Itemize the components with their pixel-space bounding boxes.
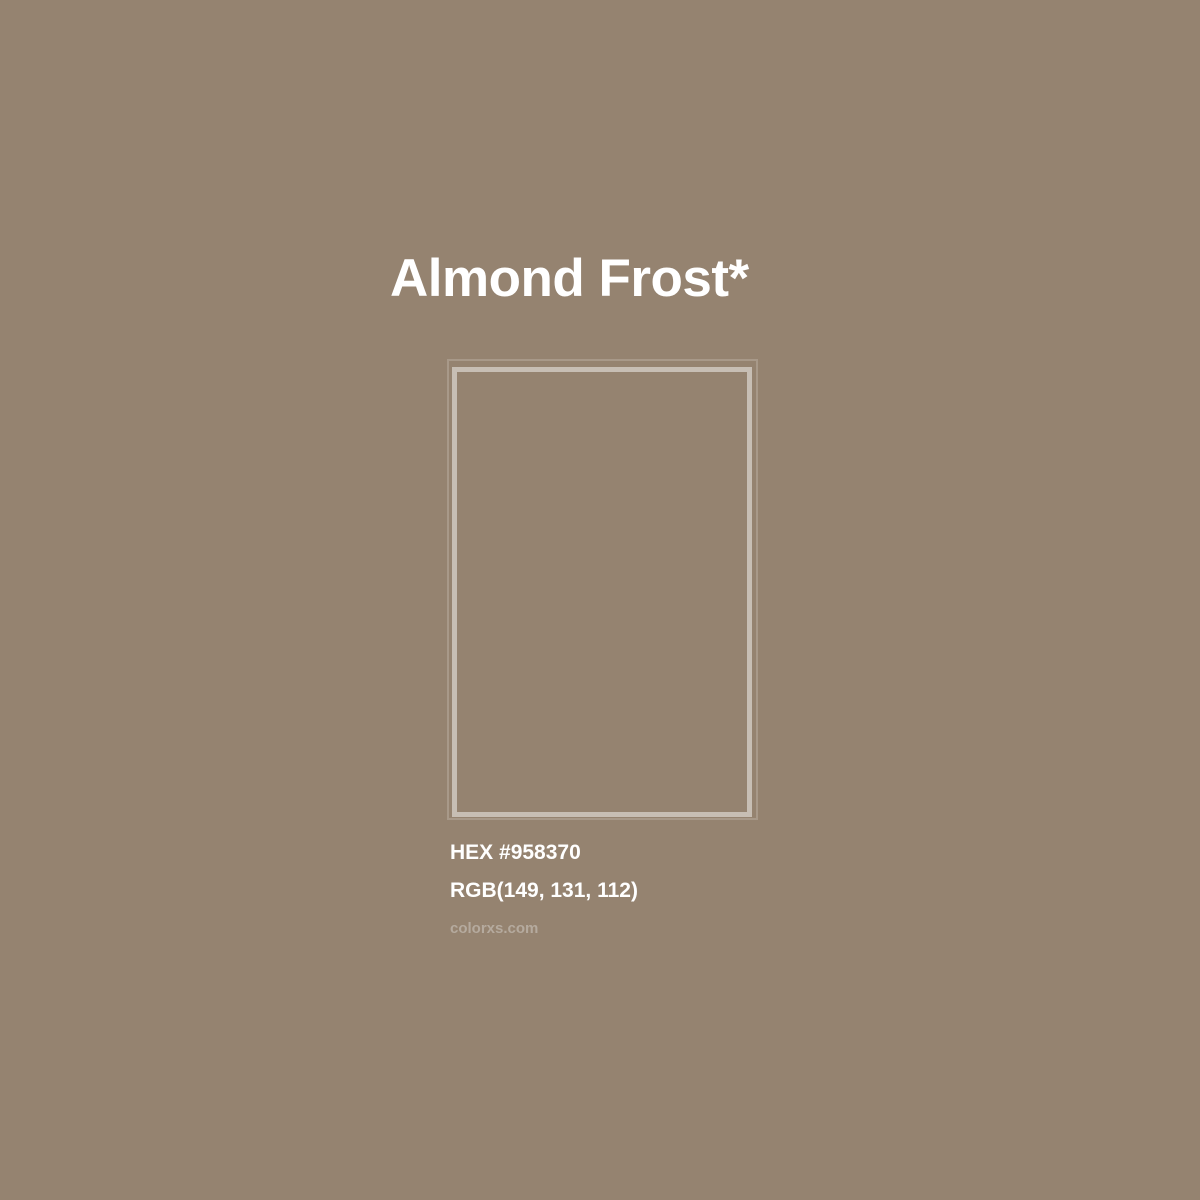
site-credit-label: colorxs.com (450, 919, 970, 939)
rgb-value-label: RGB(149, 131, 112) (450, 872, 970, 910)
page-title: Almond Frost* (390, 248, 749, 310)
color-swatch (440, 352, 770, 832)
color-info-block: HEX #958370 RGB(149, 131, 112) colorxs.c… (450, 834, 970, 939)
swatch-inner-frame (452, 367, 752, 817)
swatch-color-fill (457, 372, 747, 812)
hex-value-label: HEX #958370 (450, 834, 970, 872)
color-detail-page: Almond Frost* HEX #958370 RGB(149, 131, … (0, 0, 1200, 1200)
